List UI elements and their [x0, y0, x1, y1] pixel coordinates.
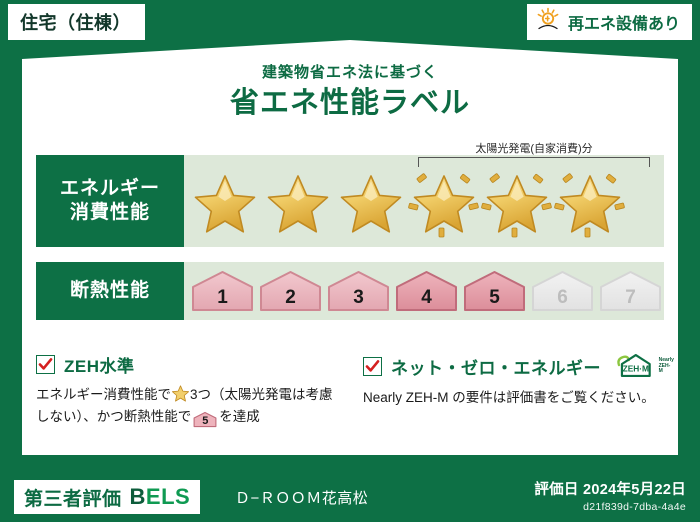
insulation-grade-badge: 3 — [326, 269, 391, 313]
third-party-label: 第三者評価 — [24, 484, 122, 511]
statement-text-part1: エネルギー消費性能で — [36, 387, 171, 402]
inline-grade-badge: 5 — [193, 411, 217, 428]
checkbox-checked-icon — [36, 355, 55, 374]
energy-star — [261, 164, 334, 238]
grade-value: 1 — [217, 287, 228, 313]
property-name: Ｄ−ＲＯＯＭ花高松 — [235, 487, 368, 508]
energy-star — [334, 164, 407, 238]
energy-star-solar — [407, 164, 480, 238]
evaluation-date: 評価日 2024年5月22日 — [534, 478, 686, 499]
insulation-label-text: 断熱性能 — [70, 279, 150, 303]
insulation-performance-row: 断熱性能 1 2 — [36, 262, 664, 320]
insulation-grade-badge: 7 — [598, 269, 663, 313]
bels-badge: 第三者評価 BELS — [14, 480, 200, 514]
solar-annotation-label: 太陽光発電(自家消費)分 — [418, 143, 650, 155]
bels-logo-b: B — [130, 484, 146, 509]
grade-value: 2 — [285, 287, 296, 313]
statement-body: Nearly ZEH-M の要件は評価書をご覧ください。 — [363, 387, 668, 409]
insulation-grade-badge: 2 — [258, 269, 323, 313]
insulation-grade-badge: 5 — [462, 269, 527, 313]
insulation-grade-badge: 1 — [190, 269, 255, 313]
grade-value: 3 — [353, 287, 364, 313]
energy-stars-panel — [184, 155, 664, 247]
grade-value: 4 — [421, 287, 432, 313]
energy-performance-label: エネルギー 消費性能 — [36, 155, 184, 247]
statement-body: エネルギー消費性能で 3つ（太陽光発電は考慮しない）、かつ断熱性能で 5 を達成 — [36, 384, 341, 428]
statement-text-star: 3つ（太陽光発電 — [190, 387, 292, 402]
grade-value: 5 — [489, 287, 500, 313]
svg-text:ZEH·M: ZEH·M — [623, 363, 649, 373]
energy-label-line1: エネルギー — [60, 177, 160, 201]
statement-header: ZEH水準 — [36, 352, 341, 377]
checkbox-checked-icon — [363, 357, 382, 376]
evaluation-info: 評価日 2024年5月22日 d21f839d-7dba-4a4e — [534, 478, 686, 513]
label-subtitle: 建築物省エネ法に基づく — [0, 64, 700, 82]
bels-energy-label: 住宅（住棟） 再エネ設備あり 建築物省エネ法に基づく 省エネ性能ラベル — [0, 0, 700, 522]
grade-value: 7 — [625, 287, 636, 313]
statement-title: ネット・ゼロ・エネルギー — [391, 354, 601, 379]
energy-star-solar — [480, 164, 553, 238]
statement-text-part3: を達成 — [219, 409, 260, 424]
energy-star — [188, 164, 261, 238]
solar-annotation-bracket — [418, 157, 650, 167]
house-type-label: 住宅（住棟） — [20, 9, 131, 35]
insulation-grade-badge: 4 — [394, 269, 459, 313]
statement-net-zero-energy: ネット・ゼロ・エネルギー ZEH·M Nearly ZEH-M Nearly Z… — [363, 352, 668, 428]
insulation-grades-panel: 1 2 3 — [184, 262, 664, 320]
renewable-energy-chip: 再エネ設備あり — [527, 4, 692, 40]
sun-icon — [535, 7, 561, 38]
insulation-grade-badge: 6 — [530, 269, 595, 313]
inline-star-icon — [172, 385, 189, 402]
zeh-m-logo-sub2: ZEH-M — [659, 363, 671, 375]
energy-star-solar — [553, 164, 626, 238]
insulation-performance-label: 断熱性能 — [36, 262, 184, 320]
solar-annotation: 太陽光発電(自家消費)分 — [418, 143, 650, 167]
statement-zeh-level: ZEH水準 エネルギー消費性能で 3つ（太陽光発電は考慮しない）、かつ断熱性能で… — [36, 352, 341, 428]
title-block: 建築物省エネ法に基づく 省エネ性能ラベル — [0, 64, 700, 120]
grade-value: 6 — [557, 287, 568, 313]
bels-logo-els: ELS — [146, 484, 190, 509]
energy-label-line2: 消費性能 — [70, 201, 150, 225]
zeh-m-logo-icon: ZEH·M Nearly ZEH-M — [615, 352, 674, 380]
statements-section: ZEH水準 エネルギー消費性能で 3つ（太陽光発電は考慮しない）、かつ断熱性能で… — [36, 352, 668, 428]
statement-header: ネット・ゼロ・エネルギー ZEH·M Nearly ZEH-M — [363, 352, 668, 380]
inline-grade-value: 5 — [193, 411, 217, 431]
statement-title: ZEH水準 — [64, 352, 135, 377]
evaluation-id: d21f839d-7dba-4a4e — [534, 501, 686, 513]
renewable-energy-label: 再エネ設備あり — [568, 10, 680, 34]
house-type-chip: 住宅（住棟） — [8, 4, 145, 40]
bels-logo: BELS — [130, 484, 191, 510]
label-main-title: 省エネ性能ラベル — [0, 87, 700, 120]
energy-performance-row: エネルギー 消費性能 — [36, 155, 664, 247]
